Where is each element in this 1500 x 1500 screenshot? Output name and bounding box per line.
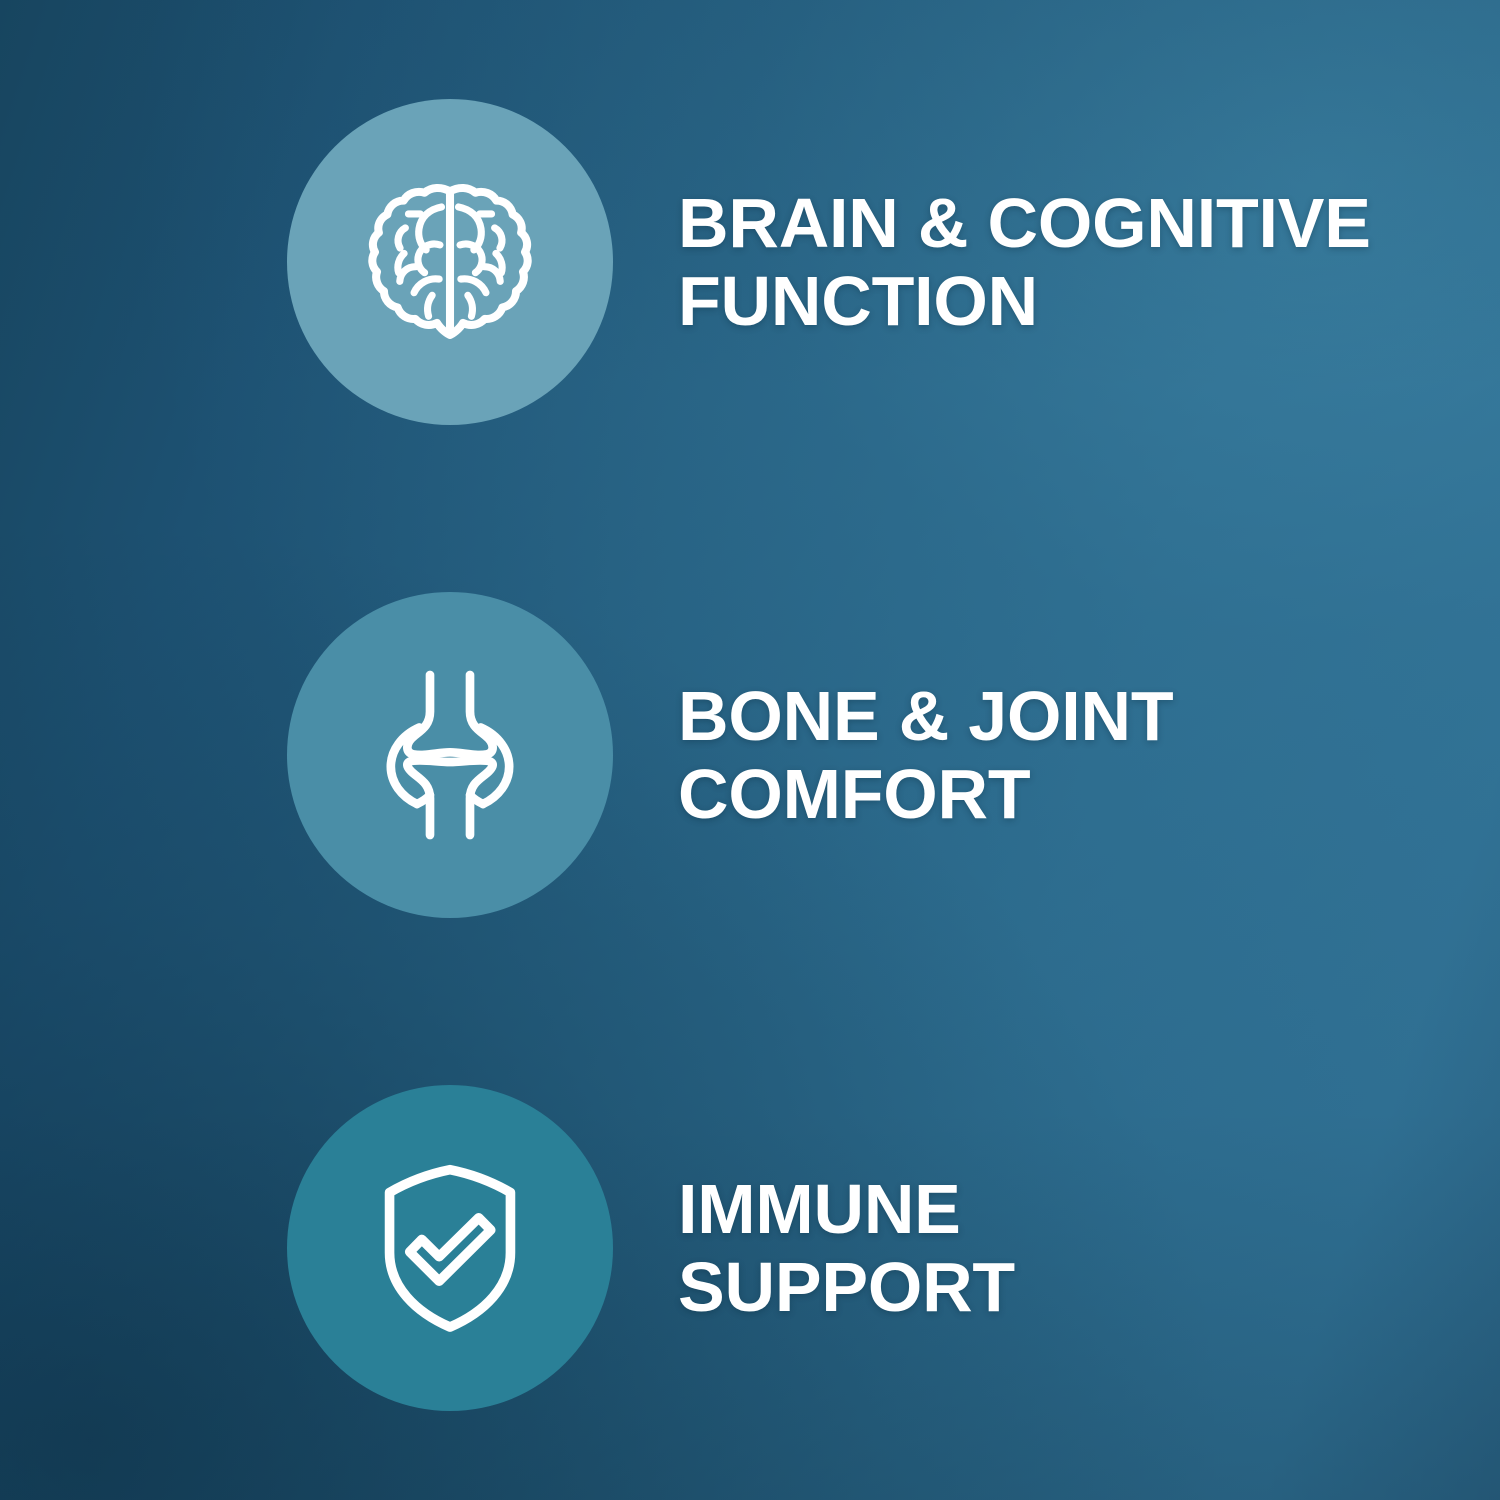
shield-check-icon (357, 1155, 543, 1341)
feature-label-brain-cognitive-function: BRAIN & COGNITIVE FUNCTION (678, 184, 1371, 341)
icon-badge-knee-joint (287, 592, 613, 918)
feature-list: BRAIN & COGNITIVE FUNCTION (0, 0, 1500, 1500)
feature-item-bone-joint-comfort: BONE & JOINT COMFORT (0, 592, 1500, 918)
feature-item-brain-cognitive-function: BRAIN & COGNITIVE FUNCTION (0, 99, 1500, 425)
icon-badge-brain (287, 99, 613, 425)
feature-item-immune-support: IMMUNE SUPPORT (0, 1085, 1500, 1411)
knee-joint-icon (350, 655, 550, 855)
feature-label-bone-joint-comfort: BONE & JOINT COMFORT (678, 677, 1173, 834)
brain-icon (357, 169, 543, 355)
feature-label-immune-support: IMMUNE SUPPORT (678, 1170, 1015, 1327)
benefits-infographic: BRAIN & COGNITIVE FUNCTION (0, 0, 1500, 1500)
icon-badge-shield (287, 1085, 613, 1411)
